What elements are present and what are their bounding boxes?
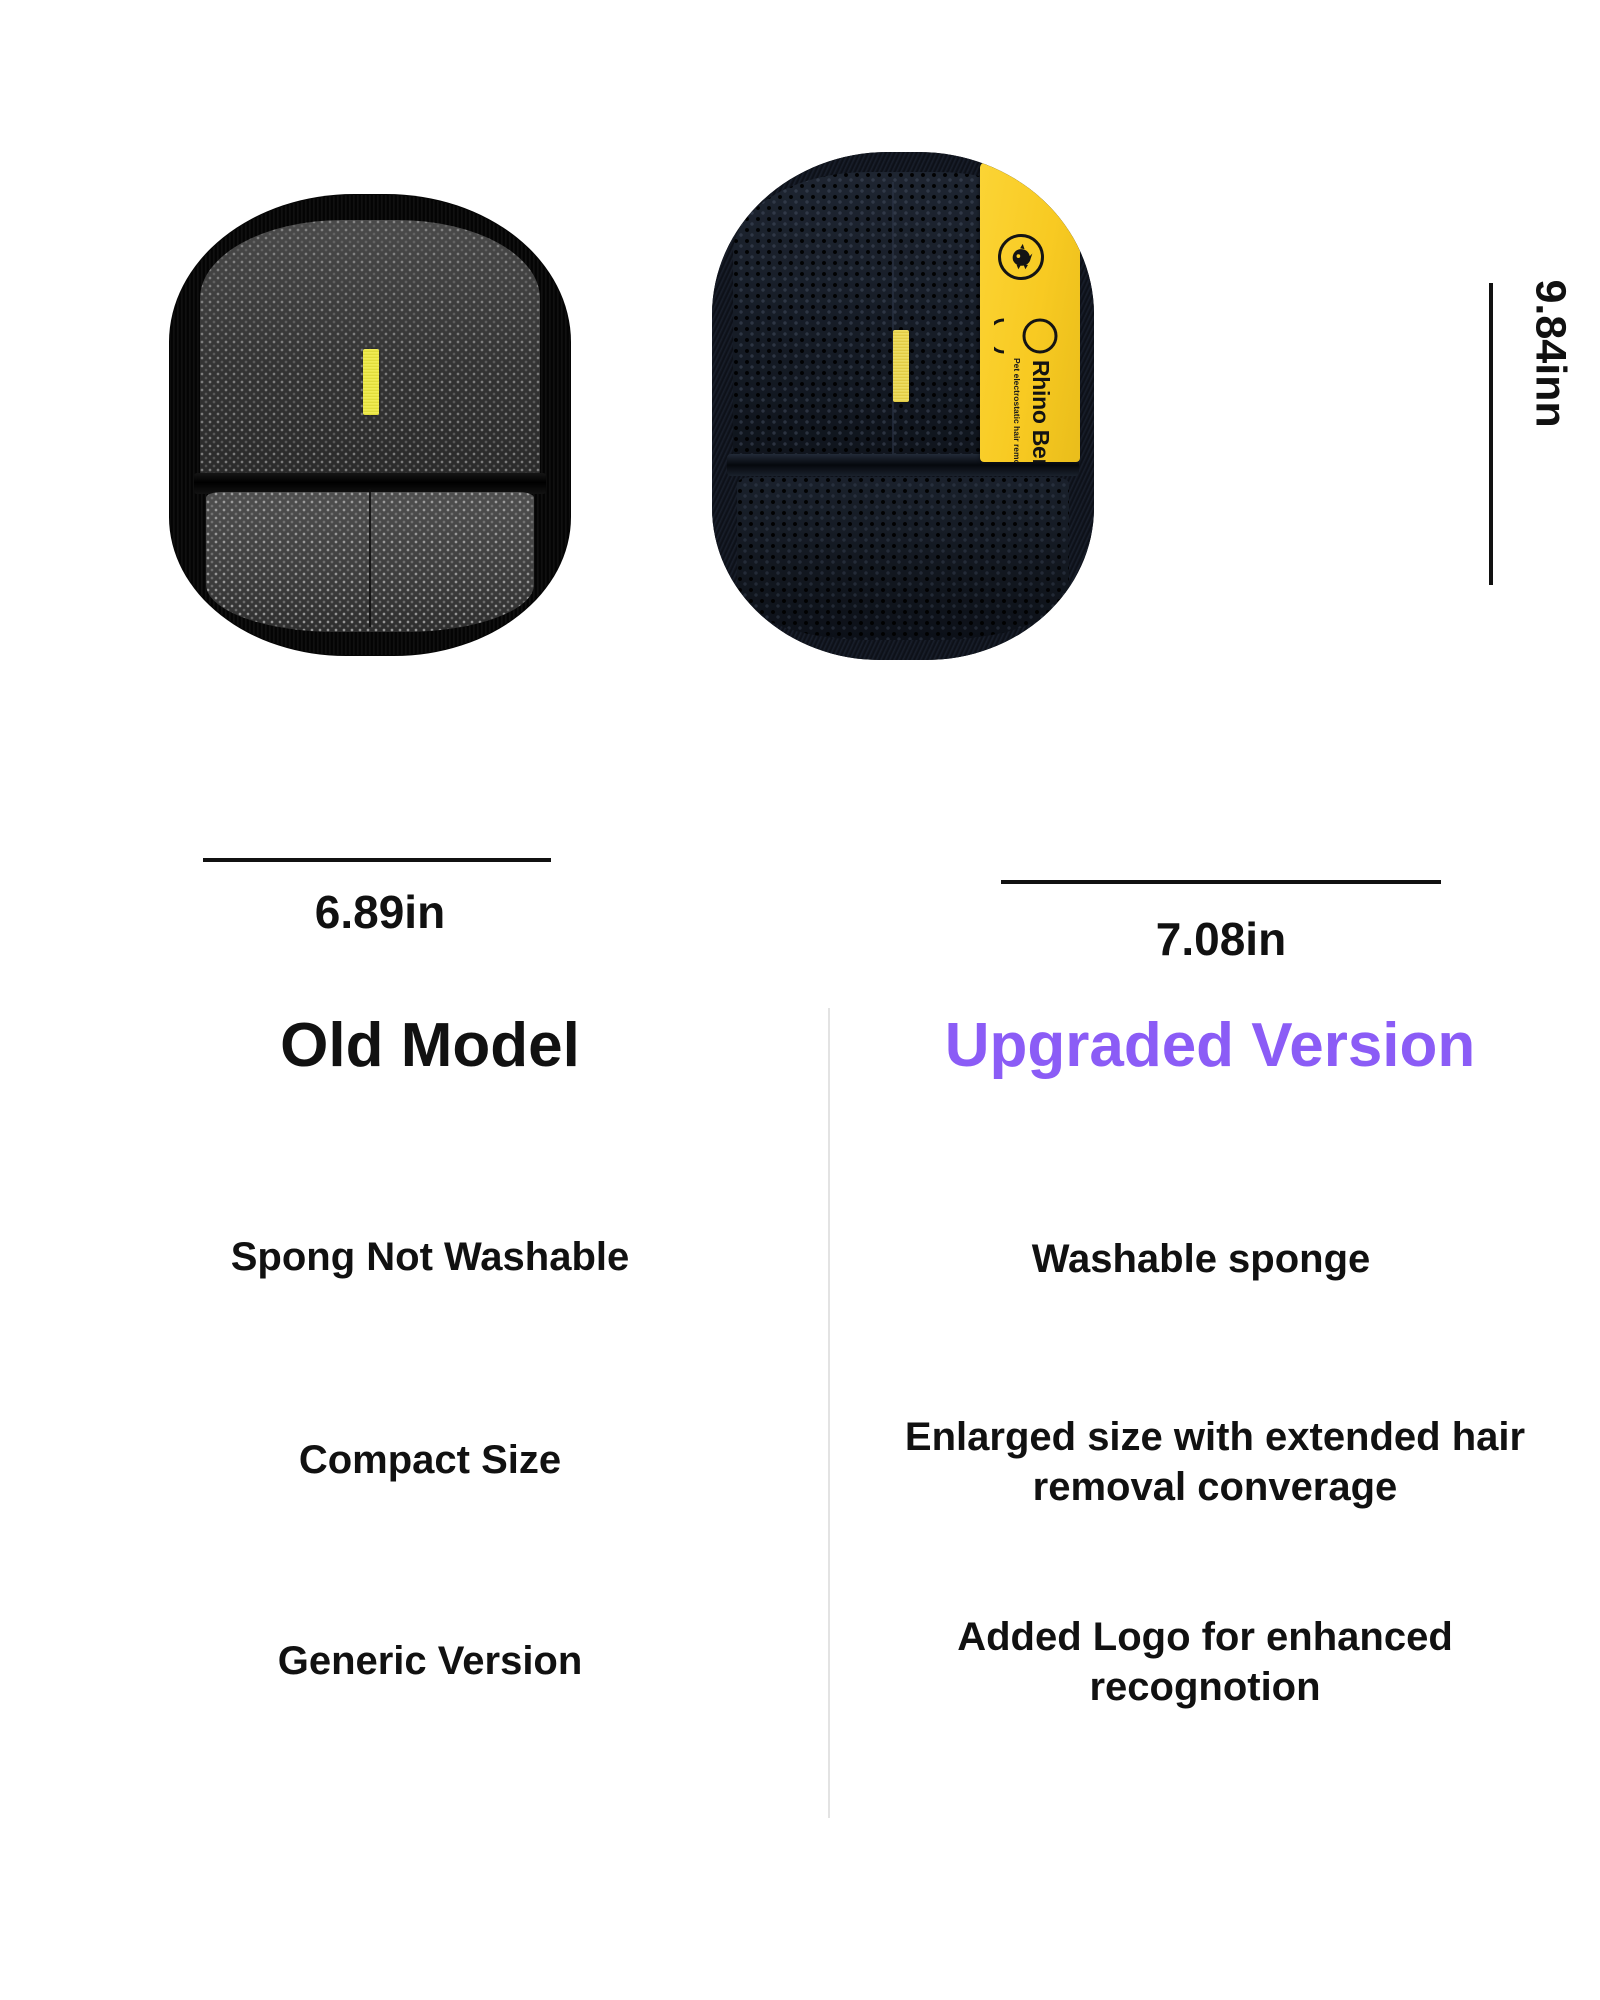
old-model-width-dimension-line: [203, 858, 551, 862]
upgraded-glove: Rhino Ben Pet electrostatic hair removal…: [712, 152, 1094, 660]
product-retail-label: Rhino Ben Pet electrostatic hair removal…: [980, 162, 1080, 462]
feature-new-1: Enlarged size with extended hair removal…: [830, 1412, 1600, 1512]
feature-old-0: Spong Not Washable: [110, 1232, 750, 1282]
upgraded-width-dimension-line: [1001, 880, 1441, 884]
upgraded-version-heading: Upgraded Version: [880, 1010, 1540, 1081]
upgraded-height-dimension-line: [1489, 283, 1493, 585]
product-tagline: Pet electrostatic hair removal gloves: [1012, 358, 1022, 462]
product-brand-name: Rhino Ben: [1027, 360, 1054, 462]
old-model-glove: [170, 195, 570, 655]
old-model-width-label: 6.89in: [185, 885, 575, 939]
comparison-infographic: 8.27in 6.89in: [0, 0, 1600, 2000]
glove-center-seam: [892, 182, 894, 456]
yellow-pull-tab: [363, 349, 379, 415]
glove-center-seam: [369, 489, 371, 627]
feature-old-2: Generic Version: [110, 1636, 750, 1686]
old-model-product-image: [170, 195, 570, 655]
rhino-head-icon: [998, 234, 1044, 280]
yellow-pull-tab: [893, 330, 909, 402]
feature-new-0: Washable sponge: [856, 1234, 1546, 1284]
upgraded-height-label: 9.84inn: [1526, 280, 1575, 470]
upgraded-width-label: 7.08in: [1021, 912, 1421, 966]
smiley-face-icon: [994, 314, 1070, 360]
upgraded-version-product-image: Rhino Ben Pet electrostatic hair removal…: [712, 152, 1094, 660]
feature-old-1: Compact Size: [110, 1435, 750, 1485]
feature-new-2: Added Logo for enhanced recognotion: [845, 1612, 1565, 1712]
old-model-heading: Old Model: [120, 1010, 740, 1081]
glove-lower-mesh-panel: [737, 477, 1069, 640]
